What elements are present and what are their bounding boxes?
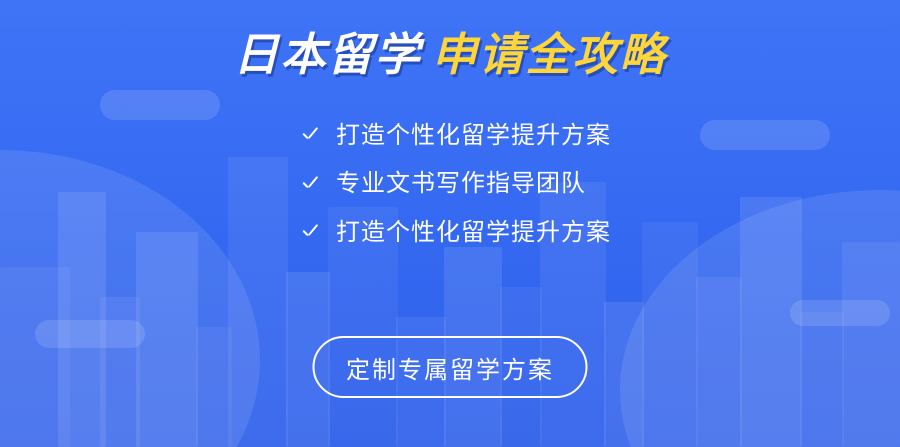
skyline-building xyxy=(642,222,698,447)
list-item: 打造个性化留学提升方案 xyxy=(300,123,600,149)
skyline-building xyxy=(800,312,844,447)
list-item: 专业文书写作指导团队 xyxy=(300,171,600,197)
list-item: 打造个性化留学提升方案 xyxy=(300,220,600,246)
skyline-building xyxy=(196,327,232,447)
title-main-text: 日本留学 xyxy=(233,32,421,77)
cloud-shape xyxy=(35,320,145,348)
list-item-label: 打造个性化留学提升方案 xyxy=(336,220,611,246)
check-icon xyxy=(300,175,320,195)
list-item-label: 打造个性化留学提升方案 xyxy=(336,123,611,149)
cloud-shape xyxy=(100,90,220,120)
skyline-building xyxy=(136,232,198,447)
check-icon xyxy=(300,223,320,243)
list-item-label: 专业文书写作指导团队 xyxy=(336,171,586,197)
promo-banner: 日本留学申请全攻略 打造个性化留学提升方案 专业文书写作指导团队 打造个性化留学… xyxy=(0,0,900,447)
page-title: 日本留学申请全攻略 xyxy=(0,32,900,77)
cta-button-label: 定制专属留学方案 xyxy=(346,350,554,385)
skyline-building xyxy=(696,277,742,447)
feature-list: 打造个性化留学提升方案 专业文书写作指导团队 打造个性化留学提升方案 xyxy=(0,123,900,246)
cta-button[interactable]: 定制专属留学方案 xyxy=(313,336,588,398)
check-icon xyxy=(300,126,320,146)
title-accent-text: 申请全攻略 xyxy=(432,32,667,77)
skyline-building xyxy=(842,242,900,447)
cloud-shape xyxy=(790,300,890,326)
skyline-building xyxy=(604,302,644,447)
